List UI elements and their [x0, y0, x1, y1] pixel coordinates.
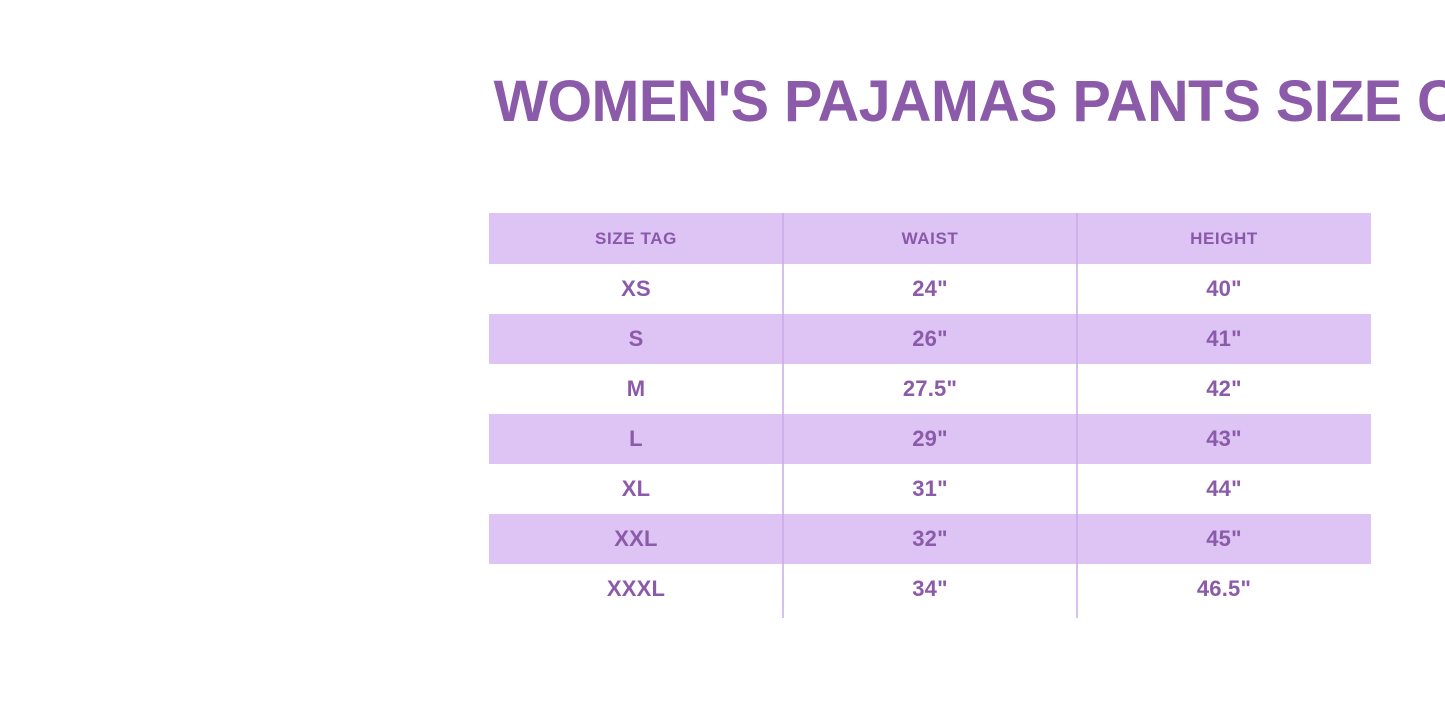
cell-waist: 31" — [783, 464, 1077, 514]
table-header: SIZE TAG WAIST HEIGHT — [489, 213, 1371, 264]
cell-waist: 27.5" — [783, 364, 1077, 414]
table-header-row: SIZE TAG WAIST HEIGHT — [489, 213, 1371, 264]
cell-waist: 26" — [783, 314, 1077, 364]
table-row: XS 24" 40" — [489, 264, 1371, 314]
size-chart-page: WOMEN'S PAJAMAS PANTS SIZE CHART SIZE TA… — [0, 0, 1445, 723]
cell-waist: 32" — [783, 514, 1077, 564]
cell-height: 42" — [1077, 364, 1371, 414]
cell-waist: 24" — [783, 264, 1077, 314]
cell-size-tag: XXL — [489, 514, 783, 564]
column-header-size-tag: SIZE TAG — [489, 213, 783, 264]
table-row: XXL 32" 45" — [489, 514, 1371, 564]
cell-size-tag: L — [489, 414, 783, 464]
cell-height: 41" — [1077, 314, 1371, 364]
column-divider-2 — [1076, 213, 1078, 618]
cell-size-tag: XXXL — [489, 564, 783, 614]
column-divider-1 — [782, 213, 784, 618]
cell-height: 40" — [1077, 264, 1371, 314]
table-row: L 29" 43" — [489, 414, 1371, 464]
table-row: M 27.5" 42" — [489, 364, 1371, 414]
table-row: XXXL 34" 46.5" — [489, 564, 1371, 614]
cell-size-tag: S — [489, 314, 783, 364]
cell-height: 45" — [1077, 514, 1371, 564]
table-body: XS 24" 40" S 26" 41" M 27.5" 42" L 29" — [489, 264, 1371, 614]
cell-waist: 29" — [783, 414, 1077, 464]
page-title: WOMEN'S PAJAMAS PANTS SIZE CHART — [494, 68, 1417, 136]
table-row: XL 31" 44" — [489, 464, 1371, 514]
cell-waist: 34" — [783, 564, 1077, 614]
table-row: S 26" 41" — [489, 314, 1371, 364]
size-chart-table: SIZE TAG WAIST HEIGHT XS 24" 40" S 26" 4… — [489, 213, 1371, 614]
size-table-container: SIZE TAG WAIST HEIGHT XS 24" 40" S 26" 4… — [489, 213, 1371, 614]
cell-height: 46.5" — [1077, 564, 1371, 614]
cell-size-tag: M — [489, 364, 783, 414]
column-header-height: HEIGHT — [1077, 213, 1371, 264]
cell-height: 44" — [1077, 464, 1371, 514]
column-header-waist: WAIST — [783, 213, 1077, 264]
cell-size-tag: XS — [489, 264, 783, 314]
cell-height: 43" — [1077, 414, 1371, 464]
cell-size-tag: XL — [489, 464, 783, 514]
